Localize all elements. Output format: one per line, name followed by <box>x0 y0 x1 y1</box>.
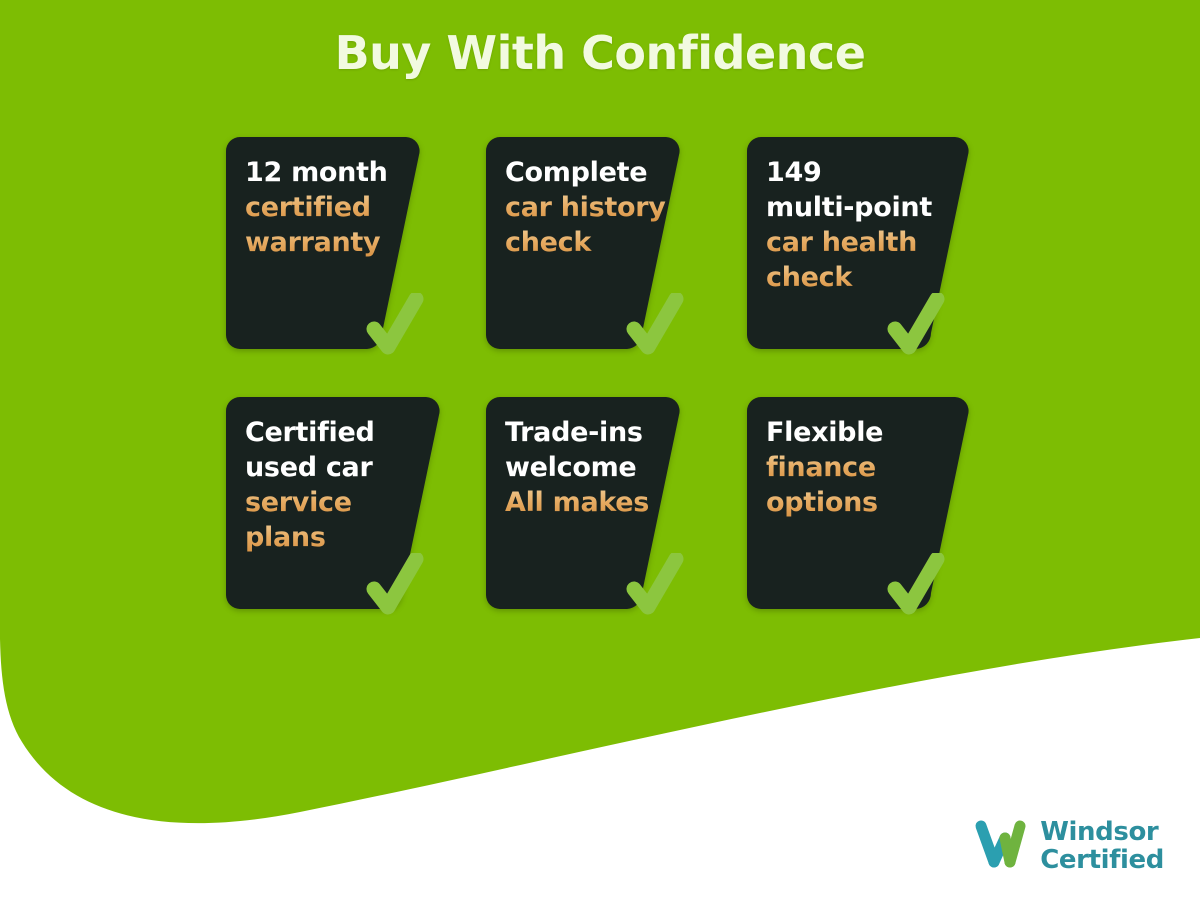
benefit-card-text: Flexible finance options <box>766 415 931 520</box>
benefit-card-text: 149 multi-point car health check <box>766 155 931 295</box>
benefit-card-text: Trade-ins welcome All makes <box>505 415 670 520</box>
benefit-card-flexible-finance-options[interactable]: Flexible finance options <box>747 397 971 609</box>
green-check-tick-icon <box>887 553 949 623</box>
benefit-line-white: Certified <box>245 415 410 450</box>
benefit-line-orange: plans <box>245 520 410 555</box>
benefit-card-text: 12 month certified warranty <box>245 155 410 260</box>
windsor-certified-logo[interactable]: Windsor Certified <box>972 818 1164 874</box>
benefit-line-orange: car health <box>766 225 931 260</box>
benefit-line-white: used car <box>245 450 410 485</box>
benefit-line-white: welcome <box>505 450 670 485</box>
benefit-line-orange: options <box>766 485 931 520</box>
green-check-tick-icon <box>626 553 688 623</box>
logo-line-windsor: Windsor <box>1040 818 1164 846</box>
benefits-row-1: 12 month certified warranty Complete car… <box>226 137 986 349</box>
benefit-line-orange: check <box>766 260 931 295</box>
benefit-card-149-multi-point-car-health-check[interactable]: 149 multi-point car health check <box>747 137 971 349</box>
benefit-line-white: Trade-ins <box>505 415 670 450</box>
green-check-tick-icon <box>366 553 428 623</box>
windsor-w-mark-icon <box>972 818 1030 874</box>
page-title: Buy With Confidence <box>0 26 1200 80</box>
benefit-line-orange: warranty <box>245 225 410 260</box>
benefit-line-white: 149 <box>766 155 931 190</box>
benefit-card-12-month-certified-warranty[interactable]: 12 month certified warranty <box>226 137 450 349</box>
benefit-line-white: Complete <box>505 155 670 190</box>
benefit-line-orange: All makes <box>505 485 670 520</box>
benefit-card-certified-used-car-service-plans[interactable]: Certified used car service plans <box>226 397 450 609</box>
benefit-line-white: multi-point <box>766 190 931 225</box>
benefit-line-orange: check <box>505 225 670 260</box>
benefits-row-2: Certified used car service plans Trade-i… <box>226 397 986 609</box>
benefit-card-text: Complete car history check <box>505 155 670 260</box>
benefit-line-orange: car history <box>505 190 670 225</box>
logo-wordmark: Windsor Certified <box>1040 818 1164 874</box>
green-check-tick-icon <box>366 293 428 363</box>
benefit-line-white: 12 month <box>245 155 410 190</box>
green-check-tick-icon <box>626 293 688 363</box>
benefit-line-white: Flexible <box>766 415 931 450</box>
promo-banner: Buy With Confidence 12 month certified w… <box>0 0 1200 900</box>
benefit-card-trade-ins-welcome-all-makes[interactable]: Trade-ins welcome All makes <box>486 397 710 609</box>
benefit-line-orange: certified <box>245 190 410 225</box>
benefit-card-complete-car-history-check[interactable]: Complete car history check <box>486 137 710 349</box>
benefit-line-orange: finance <box>766 450 931 485</box>
benefit-line-orange: service <box>245 485 410 520</box>
benefits-grid: 12 month certified warranty Complete car… <box>226 137 986 657</box>
green-check-tick-icon <box>887 293 949 363</box>
logo-line-certified: Certified <box>1040 846 1164 874</box>
benefit-card-text: Certified used car service plans <box>245 415 410 555</box>
